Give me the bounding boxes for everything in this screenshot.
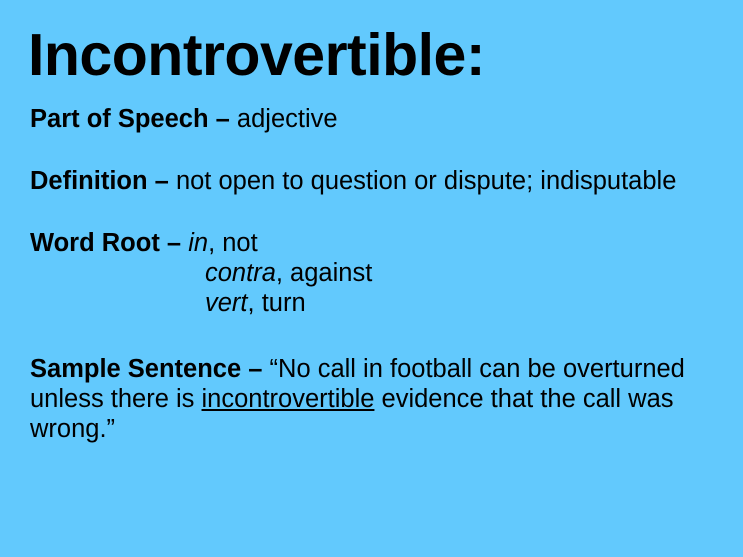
definition-label: Definition xyxy=(30,167,148,195)
word-root-line-2: contra, against xyxy=(30,258,730,288)
entry-part-of-speech: Part of Speech – adjective xyxy=(30,104,730,134)
word-root-3-separator: , xyxy=(248,289,262,317)
page-title: Incontrovertible: xyxy=(28,24,485,87)
spacer-after-part-of-speech xyxy=(30,134,730,166)
word-root-line-1: Word Root – in, not xyxy=(30,228,730,258)
word-root-1-separator: , xyxy=(208,229,222,257)
sample-sentence-dash: – xyxy=(241,355,269,383)
word-root-2-separator: , xyxy=(276,259,290,287)
entry-sample-sentence: Sample Sentence – “No call in football c… xyxy=(30,354,730,444)
part-of-speech-value: adjective xyxy=(237,105,338,133)
word-root-2-meaning: against xyxy=(290,259,372,287)
part-of-speech-dash: – xyxy=(209,105,237,133)
definition-dash: – xyxy=(148,167,176,195)
slide-body: Part of Speech – adjective Definition – … xyxy=(30,104,730,444)
word-root-line-3: vert, turn xyxy=(30,288,730,318)
entry-word-root: Word Root – in, not contra, against vert… xyxy=(30,228,730,318)
sample-sentence-highlighted-word: incontrovertible xyxy=(202,385,375,413)
part-of-speech-label: Part of Speech xyxy=(30,105,209,133)
word-root-label: Word Root xyxy=(30,229,160,257)
sample-sentence-quote-close: ” xyxy=(107,415,116,443)
sample-sentence-quote-open: “ xyxy=(270,355,279,383)
entry-definition: Definition – not open to question or dis… xyxy=(30,166,730,196)
definition-value: not open to question or dispute; indispu… xyxy=(176,167,676,195)
word-root-2-root: contra xyxy=(205,259,276,287)
sample-sentence-label: Sample Sentence xyxy=(30,355,241,383)
spacer-after-definition xyxy=(30,196,730,228)
word-root-1-meaning: not xyxy=(222,229,257,257)
word-root-3-meaning: turn xyxy=(262,289,306,317)
word-root-3-root: vert xyxy=(205,289,248,317)
word-root-dash: – xyxy=(160,229,188,257)
word-root-1-root: in xyxy=(188,229,208,257)
spacer-after-word-root xyxy=(30,318,730,354)
vocabulary-slide: Incontrovertible: Part of Speech – adjec… xyxy=(0,0,743,557)
